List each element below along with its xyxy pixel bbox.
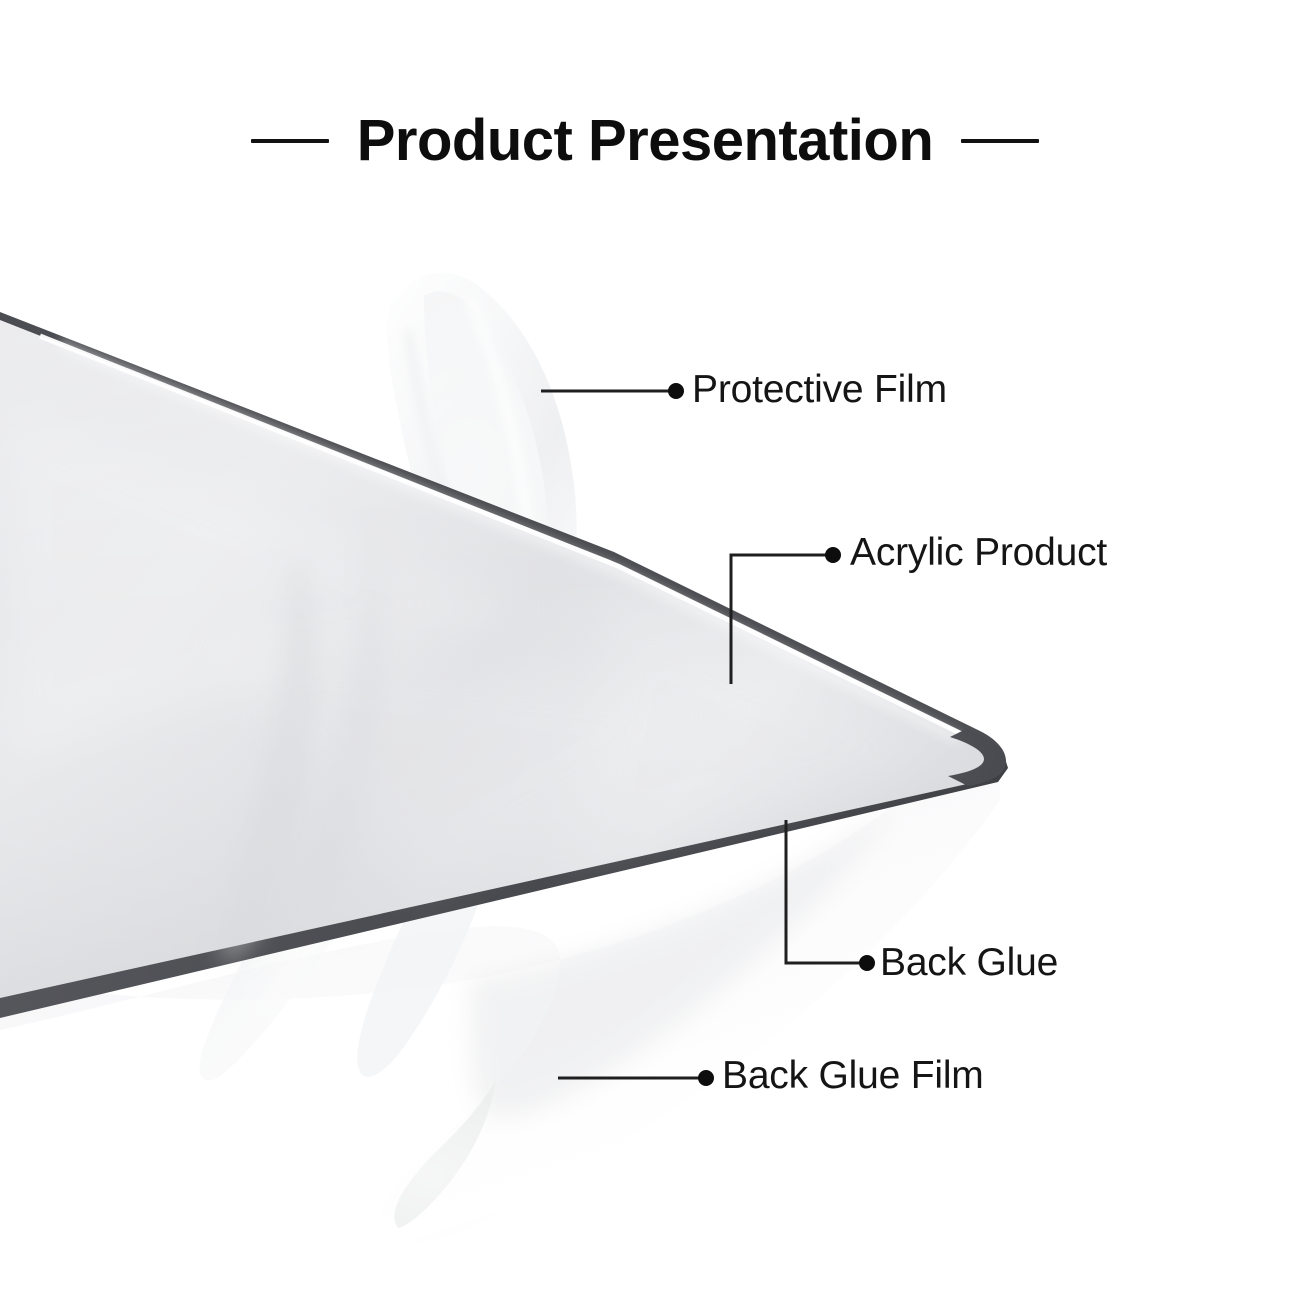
leader-dot-protective-film	[668, 383, 684, 399]
acrylic-sheet-illustration	[0, 0, 1290, 1292]
callout-label-acrylic-product: Acrylic Product	[850, 533, 1107, 572]
leader-dot-acrylic-product	[825, 547, 841, 563]
callout-label-protective-film: Protective Film	[692, 370, 947, 409]
leader-dot-back-glue-film	[698, 1070, 714, 1086]
callout-label-back-glue: Back Glue	[880, 943, 1058, 982]
product-presentation-image: Product Presentation	[0, 0, 1290, 1292]
leader-dot-back-glue	[859, 955, 875, 971]
callout-label-back-glue-film: Back Glue Film	[722, 1056, 984, 1095]
